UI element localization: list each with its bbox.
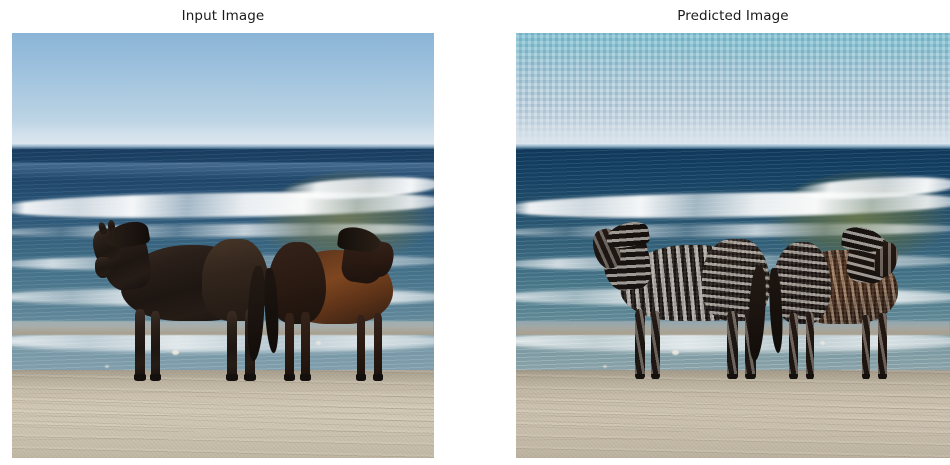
horse-hoof — [134, 374, 147, 381]
zebra-hoof — [789, 374, 798, 379]
horse-leg — [135, 309, 146, 379]
zebra-hoof — [806, 374, 814, 379]
dark-horse — [92, 226, 269, 379]
zebra-leg — [862, 315, 870, 380]
sky-region — [12, 33, 434, 146]
zebra-stripes — [651, 311, 661, 380]
horse-hoof — [244, 374, 257, 381]
bay-zebra — [770, 233, 909, 380]
sky-haze — [12, 121, 434, 146]
horse-hoof — [373, 374, 383, 381]
input-panel-title: Input Image — [12, 6, 434, 26]
zebra-hoof — [651, 374, 661, 379]
dark-zebra — [592, 226, 770, 379]
zebra-stripes — [862, 315, 870, 380]
zebra-leg — [789, 313, 798, 379]
zebra-stripes — [806, 312, 814, 379]
zebra-hoof — [727, 374, 738, 379]
horse-hoof — [226, 374, 239, 381]
predicted-panel-title: Predicted Image — [516, 6, 950, 26]
horse-leg — [357, 315, 365, 380]
sand-grain-texture — [516, 370, 950, 458]
horse-leg — [151, 311, 161, 380]
horse-leg — [285, 313, 294, 379]
horse-muzzle — [95, 257, 111, 278]
zebra-leg — [806, 312, 814, 379]
zebra-hoof — [862, 374, 870, 379]
horse-hoof — [356, 374, 366, 381]
input-image-axes — [12, 33, 434, 458]
predicted-image — [516, 33, 950, 458]
beach-region — [516, 370, 950, 458]
zebra-leg — [651, 311, 661, 380]
zebra-hoof — [878, 374, 886, 379]
horse-hoof — [284, 374, 295, 381]
zebra-stripes — [635, 309, 646, 379]
zebra-stripes — [789, 313, 798, 379]
zebra-stripes — [878, 313, 886, 379]
sky-region — [516, 33, 950, 146]
sand-grain-texture — [12, 370, 434, 458]
beach-region — [12, 370, 434, 458]
horse-hoof — [150, 374, 162, 381]
zebra-hoof — [635, 374, 646, 379]
sky-haze — [516, 121, 950, 146]
zebra-hoof — [745, 374, 756, 379]
horse-leg — [301, 312, 309, 379]
input-image — [12, 33, 434, 458]
bay-horse — [265, 233, 404, 380]
zebra-leg — [878, 313, 886, 379]
horse-hoof — [300, 374, 310, 381]
zebra-stripes — [727, 311, 738, 380]
comparison-figure: Input Image — [0, 0, 950, 465]
zebra-leg — [727, 311, 738, 380]
predicted-image-axes — [516, 33, 950, 458]
zebra-leg — [635, 309, 646, 379]
horse-leg — [227, 311, 238, 380]
horse-leg — [374, 313, 382, 379]
